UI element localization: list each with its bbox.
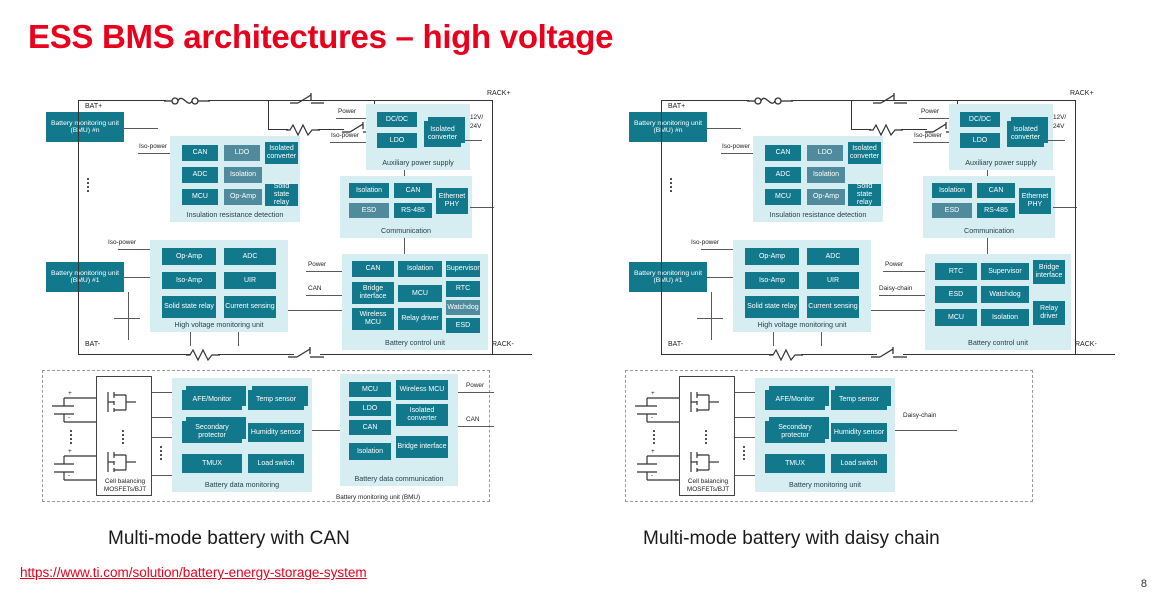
communication-out-wire (470, 207, 494, 208)
shunt-resistor-icon (186, 346, 220, 362)
panel-label: Auxiliary power supply (366, 158, 470, 167)
rail-wire-neg (661, 354, 773, 355)
contactor-icon (288, 345, 324, 360)
chip-isolation[interactable]: Isolation (398, 261, 442, 277)
bdc-power-wire (458, 392, 494, 393)
cell-polarity-pos: + (68, 448, 72, 455)
iso-power-wire (138, 153, 170, 154)
bcu-power-wire (883, 271, 925, 272)
chip-op-amp[interactable]: Op-Amp (807, 189, 845, 205)
communication-link-wire (987, 170, 988, 176)
chip-relay-driver[interactable]: Relay driver (398, 308, 442, 330)
hvmu-shunt-wire (773, 332, 774, 346)
rack-bus-wire (1075, 100, 1076, 354)
mosfet-ellipsis (705, 430, 707, 444)
chip-ethernet-phy[interactable]: Ethernet PHY (436, 188, 468, 214)
panel-label: Insulation resistance detection (170, 210, 300, 219)
rail-label-bat-neg: BAT- (85, 341, 100, 348)
precharge-branch-wire (851, 129, 871, 130)
rail-wire (661, 100, 749, 101)
diagram-right: BAT+ RACK+ Battery monitoring unit (BMU)… (583, 0, 1165, 520)
bcu-power-wire (306, 271, 342, 272)
rail-label-bat-pos: BAT+ (668, 103, 685, 110)
rail-wire-neg (320, 354, 532, 355)
bcu-daisy-chain-wire (879, 295, 925, 296)
communication-link-wire (404, 170, 405, 176)
chip-mcu[interactable]: MCU (765, 189, 801, 205)
wire-label-power: Power (338, 108, 356, 115)
chip-ldo[interactable]: LDO (960, 133, 1000, 148)
cell-ellipsis (653, 430, 655, 444)
precharge-branch-wire (901, 129, 927, 130)
chip-iso-amp[interactable]: Iso-Amp (162, 272, 216, 289)
bmu-n-out-wire (707, 128, 741, 129)
aux-power-wire (919, 118, 949, 119)
bmu-1-out-wire (707, 277, 733, 278)
panel-label: Battery data monitoring (172, 480, 312, 489)
chip-adc[interactable]: ADC (765, 167, 801, 183)
chip-load-switch[interactable]: Load switch (248, 454, 304, 473)
chip-esd[interactable]: ESD (446, 318, 480, 333)
bcu-hvmu-wire (288, 310, 342, 311)
resistor-icon (286, 122, 320, 137)
chip-rtc[interactable]: RTC (935, 263, 977, 280)
panel-label: Auxiliary power supply (949, 158, 1053, 167)
cell-ellipsis (70, 430, 72, 444)
chip-isolation[interactable]: Isolation (981, 309, 1029, 326)
panel-communication: Isolation CAN ESD RS-485 Ethernet PHY Co… (923, 176, 1055, 238)
cell-polarity-pos: + (651, 390, 655, 397)
bmu-1-tap-wire (114, 318, 140, 319)
chip-rtc[interactable]: RTC (446, 281, 480, 297)
chip-current-sensing[interactable]: Current sensing (224, 296, 276, 318)
bmu-n-label: Battery monitoring unit (BMU) #n (630, 120, 706, 135)
bmu-1-tap-wire (697, 318, 723, 319)
chip-op-amp[interactable]: Op-Amp (745, 248, 799, 265)
chip-mcu[interactable]: MCU (182, 189, 218, 205)
bmu-ellipsis (670, 178, 672, 192)
rail-wire-neg (903, 354, 1115, 355)
chip-isolation[interactable]: Isolation (349, 443, 391, 460)
chip-watchdog[interactable]: Watchdog (981, 286, 1029, 303)
diagram-caption-right: Multi-mode battery with daisy chain (643, 528, 940, 550)
chip-isolated-converter[interactable]: Isolated converter (396, 404, 448, 426)
chip-bridge-interface[interactable]: Bridge interface (352, 282, 394, 304)
fuse-icon (747, 92, 793, 109)
chip-mcu[interactable]: MCU (935, 309, 977, 326)
tap-ellipsis (160, 446, 162, 460)
chip-humidity-sensor[interactable]: Humidity sensor (248, 423, 304, 442)
chip-supervisor[interactable]: Supervisor (446, 261, 480, 277)
rail-label-bat-neg: BAT- (668, 341, 683, 348)
panel-battery-data-communication: MCU Wireless MCU LDO Isolated converter … (340, 374, 458, 486)
diagram-caption-left: Multi-mode battery with CAN (108, 528, 350, 550)
rail-label-rack-pos: RACK+ (487, 90, 511, 97)
chip-isolation[interactable]: Isolation (349, 183, 389, 198)
afe-tap-wire (152, 475, 172, 476)
rail-label-rack-neg: RACK- (1075, 341, 1097, 348)
chip-adc[interactable]: ADC (224, 248, 276, 265)
wire-label-iso-power: Iso-power (914, 132, 942, 139)
cell-balancing-label: Cell balancing MOSFETs/BJT (683, 478, 733, 494)
chip-solid-state-relay[interactable]: Solid state relay (848, 184, 881, 206)
panel-label: Communication (923, 226, 1055, 235)
panel-high-voltage-monitoring-unit: Op-Amp ADC Iso-Amp UIR Solid state relay… (150, 240, 288, 332)
panel-communication: Isolation CAN ESD RS-485 Ethernet PHY Co… (340, 176, 472, 238)
chip-wireless-mcu[interactable]: Wireless MCU (352, 308, 394, 330)
bmu-ellipsis (87, 178, 89, 192)
chip-can[interactable]: CAN (765, 145, 801, 161)
chip-esd[interactable]: ESD (935, 286, 977, 303)
chip-ethernet-phy[interactable]: Ethernet PHY (1019, 188, 1051, 214)
iso-power-wire (701, 249, 733, 250)
chip-secondary-protector[interactable]: Secondary protector (182, 421, 242, 443)
wire-label-daisy-chain: Daisy-chain (903, 412, 936, 419)
panel-battery-control-unit: RTC Supervisor Bridge interface ESD Watc… (925, 254, 1071, 350)
rail-wire-neg (801, 354, 877, 355)
communication-out-wire (1053, 207, 1077, 208)
chip-wireless-mcu[interactable]: Wireless MCU (396, 380, 448, 400)
chip-isolation[interactable]: Isolation (932, 183, 972, 198)
contactor-icon (290, 92, 324, 106)
panel-label: Communication (340, 226, 472, 235)
panel-auxiliary-power-supply: DC/DC LDO Isolated converter Auxiliary p… (366, 104, 470, 170)
chip-solid-state-relay[interactable]: Solid state relay (162, 296, 216, 318)
bdc-can-wire (458, 426, 494, 427)
wire-label-power: Power (308, 261, 326, 268)
chip-can[interactable]: CAN (352, 261, 394, 277)
chip-ldo[interactable]: LDO (224, 145, 260, 161)
contactor-icon (871, 345, 907, 360)
bcu-comm-link-wire (987, 238, 988, 254)
chip-can[interactable]: CAN (977, 183, 1015, 198)
cell-balancing-label: Cell balancing MOSFETs/BJT (100, 478, 150, 494)
chip-mcu[interactable]: MCU (349, 382, 391, 397)
afe-tap-wire (735, 392, 755, 393)
wire-label-can: CAN (308, 285, 322, 292)
bmu-n-block[interactable]: Battery monitoring unit (BMU) #n (629, 112, 707, 142)
panel-battery-control-unit: CAN Isolation Supervisor Bridge interfac… (342, 254, 488, 350)
rail-wire (905, 100, 1075, 101)
cell-polarity-neg: - (651, 414, 653, 421)
bmu-n-label: Battery monitoring unit (BMU) #n (47, 120, 123, 135)
chip-uir[interactable]: UIR (224, 272, 276, 289)
chip-adc[interactable]: ADC (807, 248, 859, 265)
hvmu-shunt-wire (821, 332, 822, 346)
rail-wire (78, 100, 166, 101)
chip-isolated-converter[interactable]: Isolated converter (1007, 121, 1044, 147)
wire-label-iso-power: Iso-power (722, 143, 750, 150)
resistor-icon (869, 122, 903, 137)
chip-adc[interactable]: ADC (182, 167, 218, 183)
diagram-left: BAT+ RACK+ Battery monitoring unit (BMU)… (0, 0, 585, 520)
chip-isolation[interactable]: Isolation (224, 167, 262, 183)
chip-afe-monitor[interactable]: AFE/Monitor (765, 390, 825, 410)
mosfet-symbols (104, 386, 146, 486)
chip-rs-485[interactable]: RS-485 (394, 203, 432, 218)
rail-wire (322, 100, 492, 101)
chip-esd[interactable]: ESD (932, 203, 972, 218)
chip-can[interactable]: CAN (349, 420, 391, 435)
daisy-chain-out-wire (895, 430, 957, 431)
chip-can[interactable]: CAN (182, 145, 218, 161)
bmu-n-block[interactable]: Battery monitoring unit (BMU) #n (46, 112, 124, 142)
chip-uir[interactable]: UIR (807, 272, 859, 289)
chip-supervisor[interactable]: Supervisor (981, 263, 1029, 280)
wire-label-iso-power: Iso-power (691, 239, 719, 246)
afe-tap-wire (152, 417, 172, 418)
panel-battery-data-monitoring: AFE/Monitor Temp sensor Secondary protec… (172, 378, 312, 492)
rail-wire-neg (78, 354, 190, 355)
wire-label-power: Power (885, 261, 903, 268)
precharge-branch-wire (318, 129, 344, 130)
panel-label: Battery data communication (340, 474, 458, 483)
aux-iso-power-wire (913, 142, 949, 143)
wire-label-voltage-out: 12V/ 24V (470, 113, 492, 131)
chip-dc-dc[interactable]: DC/DC (960, 112, 1000, 127)
chip-esd[interactable]: ESD (349, 203, 389, 218)
wire-label-iso-power: Iso-power (331, 132, 359, 139)
chip-ldo[interactable]: LDO (349, 401, 391, 416)
source-link[interactable]: https://www.ti.com/solution/battery-ener… (20, 565, 367, 580)
chip-can[interactable]: CAN (394, 183, 432, 198)
chip-afe-monitor[interactable]: AFE/Monitor (182, 390, 242, 410)
panel-label: Insulation resistance detection (753, 210, 883, 219)
hvmu-shunt-wire (238, 332, 239, 346)
chip-iso-amp[interactable]: Iso-Amp (745, 272, 799, 289)
chip-op-amp[interactable]: Op-Amp (224, 189, 262, 205)
chip-secondary-protector[interactable]: Secondary protector (765, 421, 825, 443)
panel-label: High voltage monitoring unit (150, 320, 288, 329)
rail-wire-neg (218, 354, 294, 355)
chip-temp-sensor[interactable]: Temp sensor (248, 390, 304, 410)
precharge-branch-wire (268, 129, 288, 130)
bat-bus-wire (661, 100, 662, 354)
chip-watchdog[interactable]: Watchdog (446, 300, 480, 315)
bmu-1-down-wire (711, 292, 712, 340)
afe-tap-wire (735, 417, 755, 418)
bcu-can-wire (306, 295, 342, 296)
panel-high-voltage-monitoring-unit: Op-Amp ADC Iso-Amp UIR Solid state relay… (733, 240, 871, 332)
panel-auxiliary-power-supply: DC/DC LDO Isolated converter Auxiliary p… (949, 104, 1053, 170)
panel-label: Battery control unit (925, 338, 1071, 347)
wire-label-power: Power (921, 108, 939, 115)
afe-tap-wire (735, 475, 755, 476)
cell-polarity-neg: - (651, 472, 653, 479)
chip-isolated-converter[interactable]: Isolated converter (265, 142, 298, 164)
chip-bridge-interface[interactable]: Bridge interface (1033, 260, 1065, 284)
chip-rs-485[interactable]: RS-485 (977, 203, 1015, 218)
chip-solid-state-relay[interactable]: Solid state relay (265, 184, 298, 206)
aux-power-wire (336, 118, 366, 119)
panel-insulation-resistance-detection: CAN LDO Isolated converter ADC Isolation… (170, 136, 300, 222)
bmu-1-out-wire (124, 277, 150, 278)
bmu-1-label: Battery monitoring unit (BMU) #1 (47, 270, 123, 285)
module-label: Battery monitoring unit (BMU) (336, 494, 420, 501)
chip-load-switch[interactable]: Load switch (831, 454, 887, 473)
wire-label-voltage-out: 12V/ 24V (1053, 113, 1075, 131)
bmu-1-block[interactable]: Battery monitoring unit (BMU) #1 (46, 262, 124, 292)
page-number: 8 (1141, 578, 1147, 590)
cell-polarity-neg: - (68, 414, 70, 421)
shunt-resistor-icon (769, 346, 803, 362)
rail-label-rack-pos: RACK+ (1070, 90, 1094, 97)
cell-polarity-pos: + (68, 390, 72, 397)
wire-label-iso-power: Iso-power (139, 143, 167, 150)
panel-label: High voltage monitoring unit (733, 320, 871, 329)
chip-current-sensing[interactable]: Current sensing (807, 296, 859, 318)
bcu-hvmu-wire (871, 310, 925, 311)
bmu-1-block[interactable]: Battery monitoring unit (BMU) #1 (629, 262, 707, 292)
afe-tap-wire (152, 437, 172, 438)
wire-label-daisy-chain: Daisy-chain (879, 285, 912, 292)
panel-label: Battery monitoring unit (755, 480, 895, 489)
chip-tmux[interactable]: TMUX (182, 454, 242, 473)
rail-label-rack-neg: RACK- (492, 341, 514, 348)
wire-label-can: CAN (466, 416, 480, 423)
contactor-icon (873, 92, 907, 106)
chip-dc-dc[interactable]: DC/DC (377, 112, 417, 127)
hvmu-shunt-wire (190, 332, 191, 346)
bcu-comm-link-wire (404, 238, 405, 254)
bmu-n-out-wire (124, 128, 158, 129)
rack-bus-wire (492, 100, 493, 354)
chip-relay-driver[interactable]: Relay driver (1033, 301, 1065, 325)
fuse-icon (164, 92, 210, 109)
bmu-1-down-wire (128, 292, 129, 340)
iso-power-wire (721, 153, 753, 154)
precharge-branch-wire (851, 100, 852, 130)
chip-isolation[interactable]: Isolation (807, 167, 845, 183)
bat-bus-wire (78, 100, 79, 354)
panel-label: Battery control unit (342, 338, 488, 347)
chip-isolated-converter[interactable]: Isolated converter (424, 121, 461, 147)
tap-ellipsis (743, 446, 745, 460)
chip-bridge-interface[interactable]: Bridge interface (396, 436, 448, 458)
chip-solid-state-relay[interactable]: Solid state relay (745, 296, 799, 318)
afe-tap-wire (735, 437, 755, 438)
wire-label-power: Power (466, 382, 484, 389)
chip-temp-sensor[interactable]: Temp sensor (831, 390, 887, 410)
mosfet-symbols (687, 386, 729, 486)
bmu-1-label: Battery monitoring unit (BMU) #1 (630, 270, 706, 285)
panel-insulation-resistance-detection: CAN LDO Isolated converter ADC Isolation… (753, 136, 883, 222)
cell-polarity-pos: + (651, 448, 655, 455)
bdm-bdc-link-wire (312, 430, 340, 431)
chip-mcu[interactable]: MCU (398, 285, 442, 302)
chip-op-amp[interactable]: Op-Amp (162, 248, 216, 265)
aux-iso-power-wire (330, 142, 366, 143)
panel-battery-monitoring-unit: AFE/Monitor Temp sensor Secondary protec… (755, 378, 895, 492)
chip-ldo[interactable]: LDO (377, 133, 417, 148)
precharge-branch-wire (268, 100, 269, 130)
chip-humidity-sensor[interactable]: Humidity sensor (831, 423, 887, 442)
rail-label-bat-pos: BAT+ (85, 103, 102, 110)
chip-tmux[interactable]: TMUX (765, 454, 825, 473)
chip-isolated-converter[interactable]: Isolated converter (848, 142, 881, 164)
cell-polarity-neg: - (68, 472, 70, 479)
chip-ldo[interactable]: LDO (807, 145, 843, 161)
afe-tap-wire (152, 392, 172, 393)
slide-canvas: ESS BMS architectures – high voltage (0, 0, 1165, 600)
wire-label-iso-power: Iso-power (108, 239, 136, 246)
mosfet-ellipsis (122, 430, 124, 444)
iso-power-wire (118, 249, 150, 250)
